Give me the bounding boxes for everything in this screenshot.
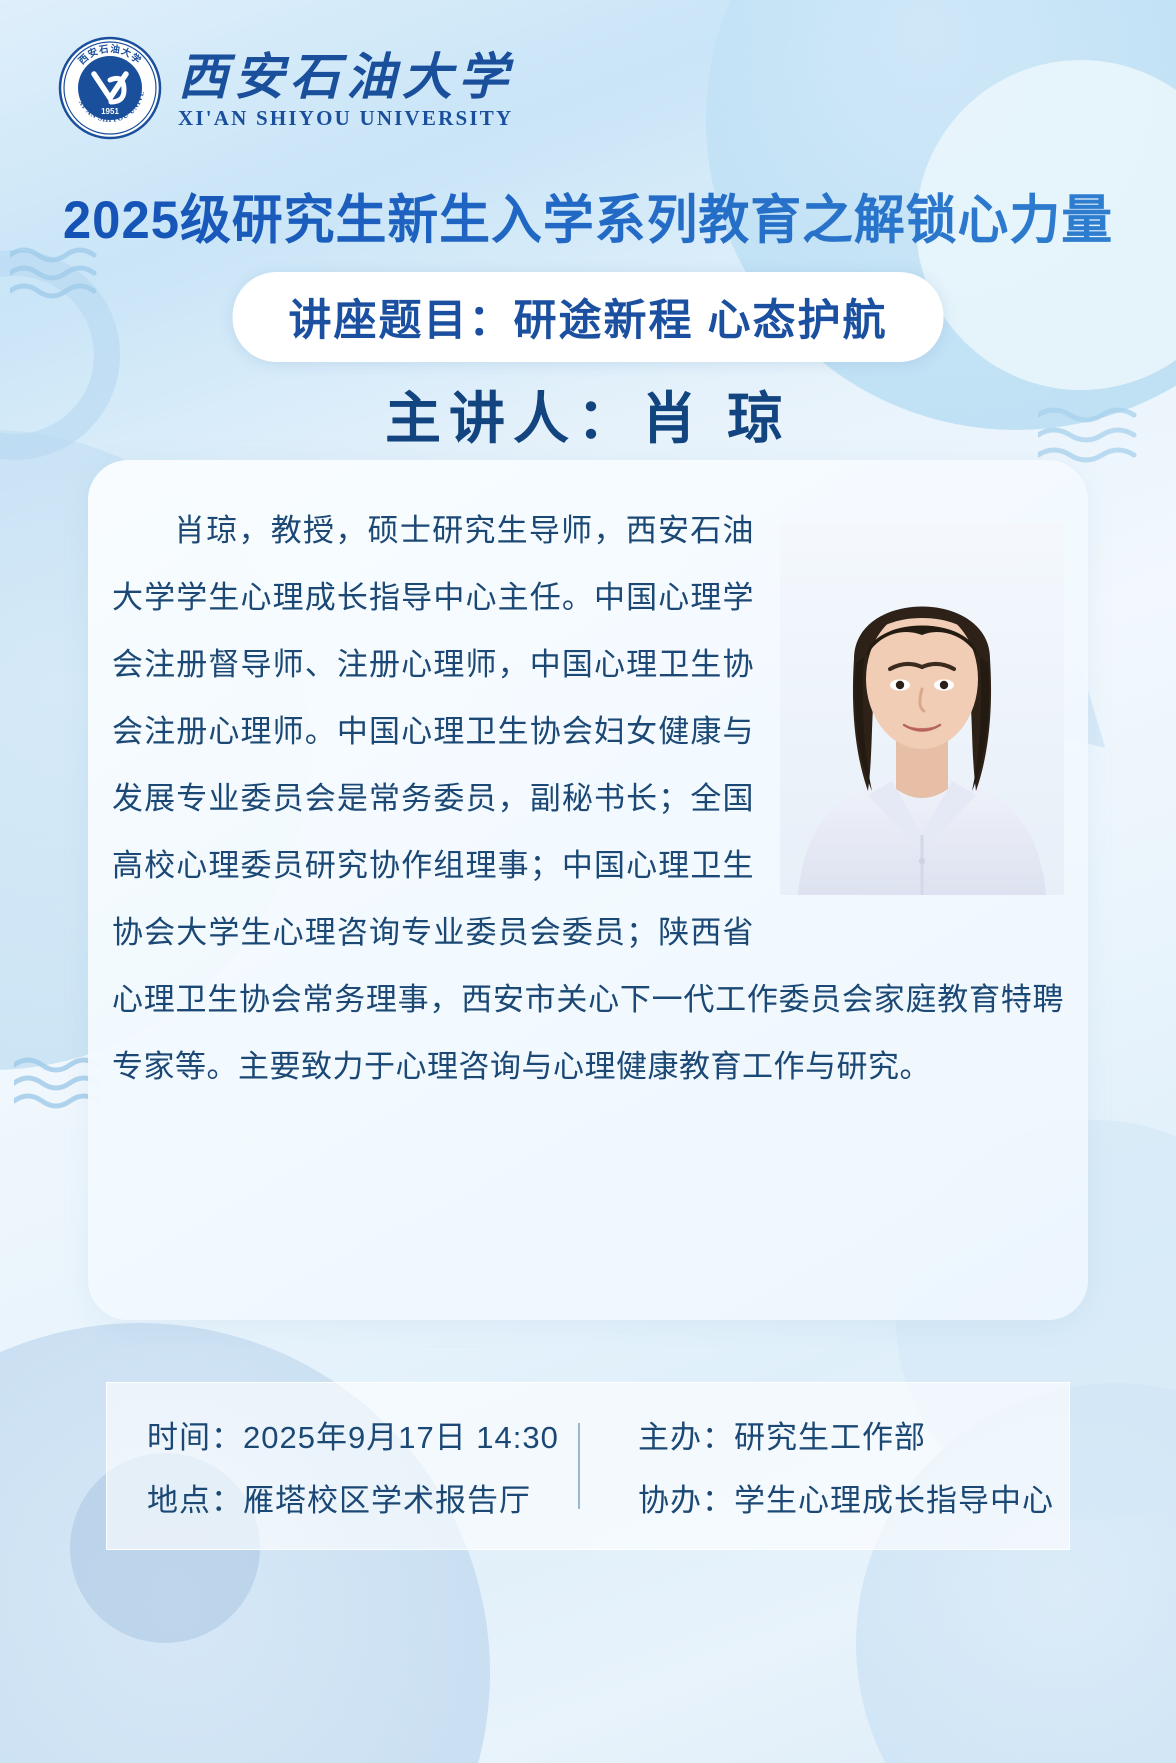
event-info-left: 时间：2025年9月17日 14:30 地点：雁塔校区学术报告厅 bbox=[107, 1412, 578, 1520]
event-cohost: 协办：学生心理成长指导中心 bbox=[638, 1475, 1069, 1520]
poster-root: 1951 西安石油大学 XI'AN SHIYOU UNIVERSITY 西安石油… bbox=[0, 0, 1176, 1763]
poster-main-title: 2025级研究生新生入学系列教育之解锁心力量 bbox=[24, 178, 1153, 254]
university-name-cn: 西安石油大学 bbox=[178, 52, 514, 102]
university-name-en: XI'AN SHIYOU UNIVERSITY bbox=[178, 108, 514, 129]
decor-waves-left-top bbox=[10, 245, 120, 305]
event-info-bar: 时间：2025年9月17日 14:30 地点：雁塔校区学术报告厅 主办：研究生工… bbox=[106, 1382, 1070, 1550]
speaker-name-line: 主讲人：肖 琼 bbox=[0, 374, 1176, 455]
event-info-right: 主办：研究生工作部 协办：学生心理成长指导中心 bbox=[580, 1412, 1069, 1520]
university-seal-icon: 1951 西安石油大学 XI'AN SHIYOU UNIVERSITY bbox=[58, 36, 162, 145]
lecture-topic-text: 讲座题目：研途新程 心态护航 bbox=[289, 286, 888, 348]
university-logo: 1951 西安石油大学 XI'AN SHIYOU UNIVERSITY 西安石油… bbox=[58, 36, 514, 145]
event-place: 地点：雁塔校区学术报告厅 bbox=[147, 1475, 578, 1520]
bio-content: 肖琼，教授，硕士研究生导师，西安石油大学学生心理成长指导中心主任。中国心理学会注… bbox=[112, 497, 1064, 1100]
event-time: 时间：2025年9月17日 14:30 bbox=[147, 1412, 578, 1457]
lecture-topic-pill: 讲座题目：研途新程 心态护航 bbox=[233, 272, 944, 362]
speaker-portrait bbox=[780, 523, 1064, 895]
event-host: 主办：研究生工作部 bbox=[638, 1412, 1069, 1457]
